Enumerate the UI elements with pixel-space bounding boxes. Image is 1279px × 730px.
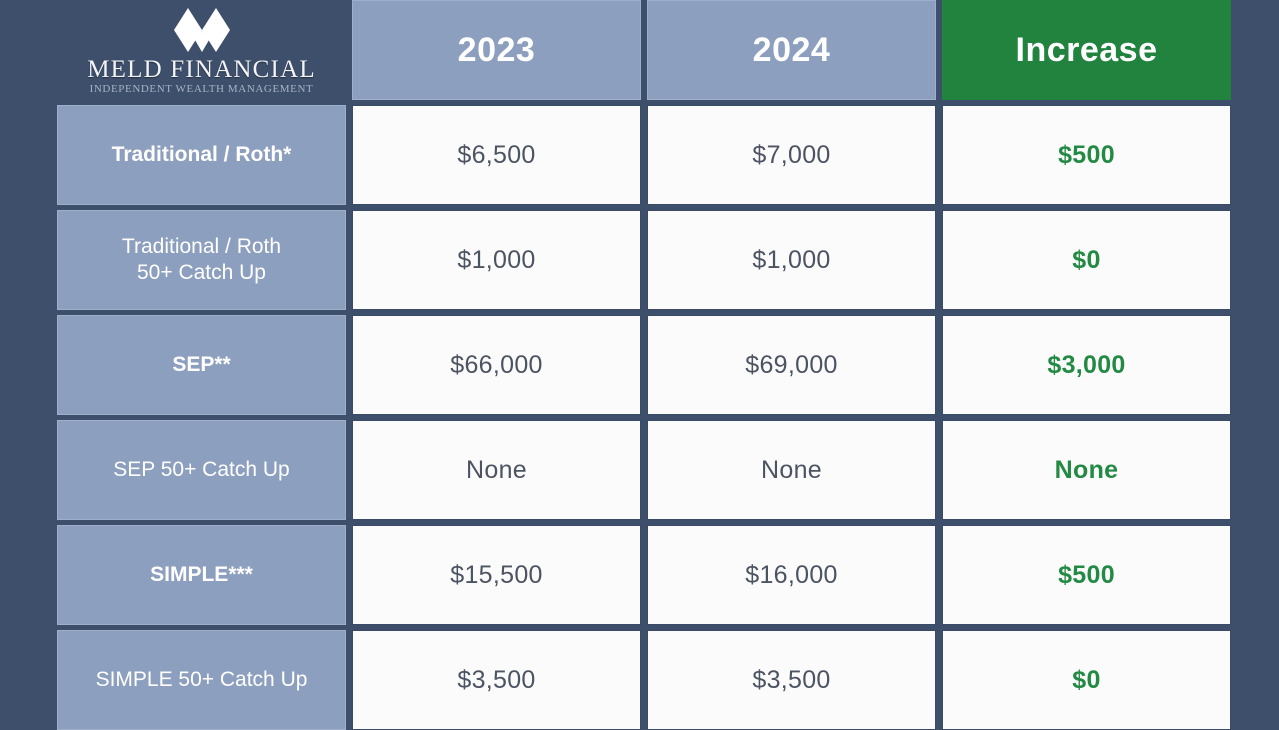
cell-simple-increase: $500 xyxy=(942,525,1231,625)
brand-name: MELD FINANCIAL xyxy=(87,57,316,82)
cell-sep-catchup-increase: None xyxy=(942,420,1231,520)
cell-traditional-roth-2024: $7,000 xyxy=(647,105,936,205)
contribution-limits-table: MELD FINANCIAL INDEPENDENT WEALTH MANAGE… xyxy=(57,0,1223,730)
cell-simple-2023: $15,500 xyxy=(352,525,641,625)
row-label-simple: SIMPLE*** xyxy=(57,525,346,625)
meld-m-logo-icon xyxy=(171,6,233,56)
cell-simple-catchup-2023: $3,500 xyxy=(352,630,641,730)
cell-sep-catchup-2023: None xyxy=(352,420,641,520)
cell-traditional-roth-increase: $500 xyxy=(942,105,1231,205)
cell-simple-catchup-2024: $3,500 xyxy=(647,630,936,730)
cell-sep-increase: $3,000 xyxy=(942,315,1231,415)
cell-sep-2024: $69,000 xyxy=(647,315,936,415)
cell-traditional-roth-catchup-increase: $0 xyxy=(942,210,1231,310)
cell-traditional-roth-catchup-2023: $1,000 xyxy=(352,210,641,310)
row-label-sep: SEP** xyxy=(57,315,346,415)
column-header-increase: Increase xyxy=(942,0,1231,100)
row-label-sep-catchup: SEP 50+ Catch Up xyxy=(57,420,346,520)
column-header-2024: 2024 xyxy=(647,0,936,100)
cell-sep-catchup-2024: None xyxy=(647,420,936,520)
brand-tagline: INDEPENDENT WEALTH MANAGEMENT xyxy=(90,84,314,95)
poster-canvas: MELD FINANCIAL INDEPENDENT WEALTH MANAGE… xyxy=(0,0,1279,720)
row-label-simple-catchup: SIMPLE 50+ Catch Up xyxy=(57,630,346,730)
cell-sep-2023: $66,000 xyxy=(352,315,641,415)
column-header-2023: 2023 xyxy=(352,0,641,100)
row-label-traditional-roth: Traditional / Roth* xyxy=(57,105,346,205)
brand-logo: MELD FINANCIAL INDEPENDENT WEALTH MANAGE… xyxy=(57,0,346,100)
cell-traditional-roth-2023: $6,500 xyxy=(352,105,641,205)
row-label-traditional-roth-catchup: Traditional / Roth50+ Catch Up xyxy=(57,210,346,310)
cell-simple-catchup-increase: $0 xyxy=(942,630,1231,730)
cell-simple-2024: $16,000 xyxy=(647,525,936,625)
cell-traditional-roth-catchup-2024: $1,000 xyxy=(647,210,936,310)
